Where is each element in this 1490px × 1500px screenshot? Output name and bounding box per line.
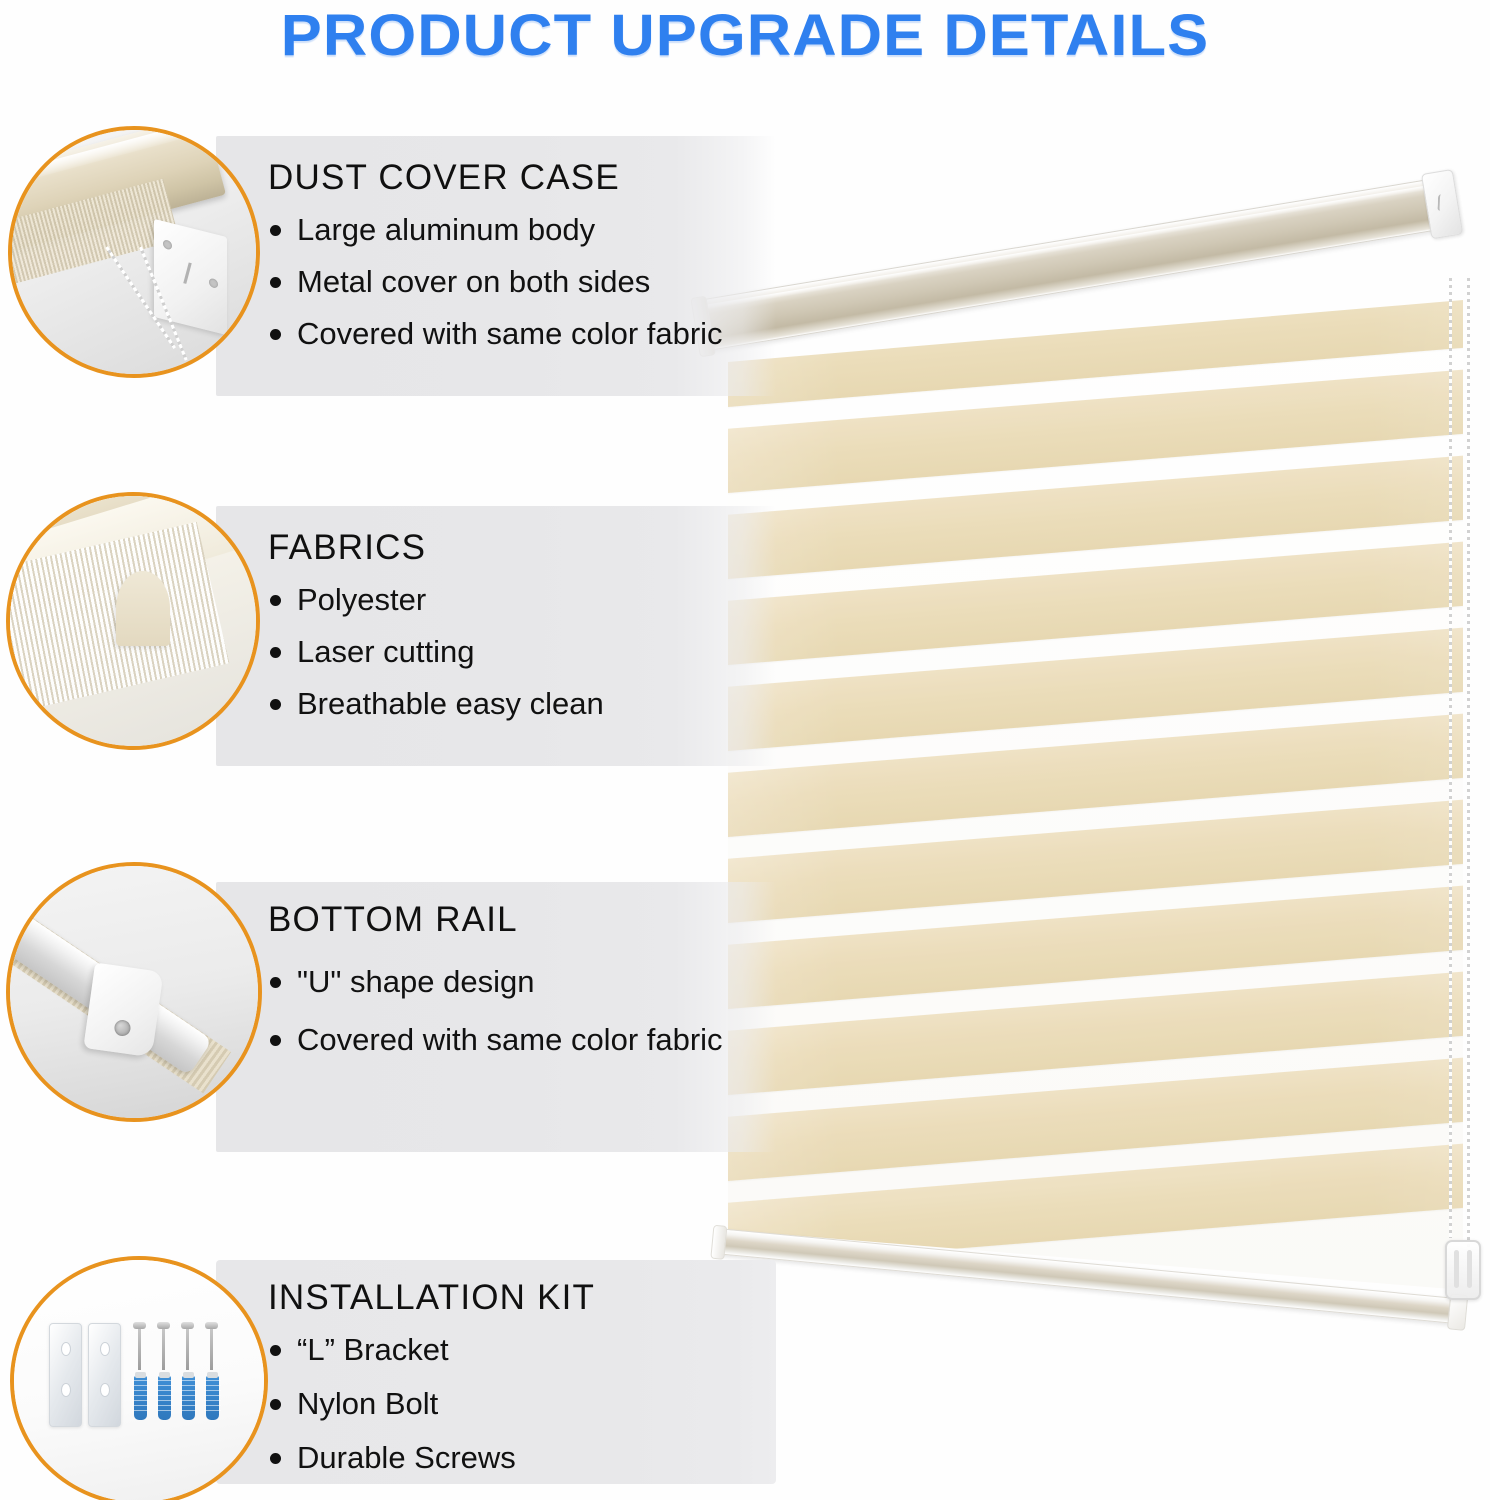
white-endcap bbox=[154, 218, 227, 334]
list-item: Covered with same color fabric bbox=[270, 1022, 723, 1058]
headrail-cassette bbox=[696, 176, 1456, 352]
list-item: Laser cutting bbox=[270, 634, 604, 670]
bullet-text: Covered with same color fabric bbox=[297, 316, 723, 352]
white-endcap bbox=[84, 962, 165, 1057]
l-bracket-icon bbox=[88, 1323, 121, 1427]
feature-title: BOTTOM RAIL bbox=[268, 900, 518, 940]
chain-tensioner bbox=[1445, 1240, 1481, 1300]
bottom-rail-bar bbox=[715, 1228, 1462, 1324]
feature-title: INSTALLATION KIT bbox=[268, 1278, 595, 1318]
page-title: PRODUCT UPGRADE DETAILS bbox=[0, 2, 1490, 69]
fabric-stripe bbox=[728, 537, 1463, 667]
screw-icon bbox=[210, 1327, 213, 1370]
bullet-text: Laser cutting bbox=[297, 634, 475, 670]
nylon-anchor-icon bbox=[158, 1376, 171, 1421]
screw-icon bbox=[186, 1327, 189, 1370]
screw-icon bbox=[162, 1327, 165, 1370]
bullet-text: Durable Screws bbox=[297, 1440, 516, 1476]
list-item: Nylon Bolt bbox=[270, 1386, 516, 1422]
screw-icon bbox=[114, 1019, 132, 1037]
bullet-text: "U" shape design bbox=[297, 964, 534, 1000]
feature-bullet-list: “L” Bracket Nylon Bolt Durable Screws bbox=[270, 1332, 516, 1476]
hardware-group bbox=[49, 1323, 234, 1425]
nylon-anchor-icon bbox=[182, 1376, 195, 1421]
fabric-stripe bbox=[728, 300, 1463, 410]
chain-hook-icon bbox=[1437, 193, 1447, 211]
bead-chain-cord bbox=[1449, 278, 1452, 1238]
feature-photo-circle-dust-cover bbox=[8, 126, 260, 378]
feature-photo-circle-bottom-rail bbox=[6, 862, 262, 1122]
bullet-text: Large aluminum body bbox=[297, 212, 595, 248]
feature-bullet-list: Large aluminum body Metal cover on both … bbox=[270, 212, 723, 352]
bullet-dot-icon bbox=[270, 277, 281, 288]
list-item: Polyester bbox=[270, 582, 604, 618]
bullet-dot-icon bbox=[270, 595, 281, 606]
headrail-right-endcap bbox=[1421, 169, 1463, 239]
bottom-rail-right-endcap bbox=[1447, 1293, 1468, 1331]
screw-icon bbox=[209, 277, 218, 288]
fabric-stripe bbox=[728, 1053, 1463, 1183]
bullet-text: “L” Bracket bbox=[297, 1332, 449, 1368]
bullet-dot-icon bbox=[270, 647, 281, 658]
bullet-text: Nylon Bolt bbox=[297, 1386, 438, 1422]
bullet-text: Covered with same color fabric bbox=[297, 1022, 723, 1058]
bullet-dot-icon bbox=[270, 977, 281, 988]
feature-bullet-list: Polyester Laser cutting Breathable easy … bbox=[270, 582, 604, 722]
bead-chain-cord bbox=[1467, 278, 1470, 1253]
bead-chain-control bbox=[1440, 278, 1486, 1308]
fabric-stripe bbox=[728, 967, 1463, 1097]
feature-bullet-list: "U" shape design Covered with same color… bbox=[270, 964, 723, 1058]
fabric-stripe bbox=[728, 365, 1463, 495]
screw-icon bbox=[138, 1327, 141, 1370]
feature-block-fabrics: FABRICS Polyester Laser cutting Breathab… bbox=[0, 490, 790, 750]
bullet-text: Breathable easy clean bbox=[297, 686, 604, 722]
installation-hardware-photo bbox=[14, 1260, 264, 1500]
blind-fabric-panel bbox=[728, 300, 1463, 1290]
feature-photo-circle-installation-kit bbox=[10, 1256, 268, 1500]
feature-block-bottom-rail: BOTTOM RAIL "U" shape design Covered wit… bbox=[0, 862, 790, 1132]
list-item: Breathable easy clean bbox=[270, 686, 604, 722]
feature-block-installation-kit: INSTALLATION KIT “L” Bracket Nylon Bolt … bbox=[0, 1256, 790, 1496]
feature-photo-circle-fabrics bbox=[6, 492, 260, 750]
bullet-dot-icon bbox=[270, 699, 281, 710]
list-item: Covered with same color fabric bbox=[270, 316, 723, 352]
bullet-text: Metal cover on both sides bbox=[297, 264, 650, 300]
fabric-stripe bbox=[728, 623, 1463, 753]
keyhole-icon bbox=[183, 262, 199, 285]
bullet-dot-icon bbox=[270, 225, 281, 236]
list-item: Large aluminum body bbox=[270, 212, 723, 248]
fabric-stripe bbox=[728, 709, 1463, 839]
nylon-anchor-icon bbox=[206, 1376, 219, 1421]
list-item: Metal cover on both sides bbox=[270, 264, 723, 300]
fabric-stripe bbox=[728, 795, 1463, 925]
sheer-backing bbox=[728, 300, 1463, 1290]
bullet-dot-icon bbox=[270, 1035, 281, 1046]
feature-block-dust-cover-case: DUST COVER CASE Large aluminum body Meta… bbox=[0, 120, 790, 380]
list-item: “L” Bracket bbox=[270, 1332, 516, 1368]
bullet-text: Polyester bbox=[297, 582, 426, 618]
bullet-dot-icon bbox=[270, 1399, 281, 1410]
l-bracket-icon bbox=[49, 1323, 82, 1427]
fabric-fold bbox=[116, 571, 170, 646]
list-item: "U" shape design bbox=[270, 964, 723, 1000]
fabric-stripe bbox=[728, 451, 1463, 581]
bullet-dot-icon bbox=[270, 329, 281, 340]
zebra-fabric-closeup-photo bbox=[10, 496, 256, 746]
infographic-canvas: PRODUCT UPGRADE DETAILS bbox=[0, 0, 1490, 1500]
bottom-rail-left-endcap bbox=[710, 1225, 727, 1260]
list-item: Durable Screws bbox=[270, 1440, 516, 1476]
screw-icon bbox=[162, 238, 171, 249]
bullet-dot-icon bbox=[270, 1345, 281, 1356]
fabric-stripe bbox=[728, 881, 1463, 1011]
nylon-anchor-icon bbox=[134, 1376, 147, 1421]
feature-title: FABRICS bbox=[268, 528, 426, 568]
fabric-stripe bbox=[728, 300, 1463, 324]
bottom-rail-endcap-photo bbox=[10, 866, 258, 1118]
headrail-tube bbox=[696, 176, 1456, 352]
bottom-rail bbox=[715, 1228, 1462, 1324]
fabric-stripe bbox=[728, 1139, 1463, 1269]
feature-title: DUST COVER CASE bbox=[268, 158, 620, 198]
headrail-cassette-photo bbox=[12, 130, 256, 374]
bullet-dot-icon bbox=[270, 1453, 281, 1464]
